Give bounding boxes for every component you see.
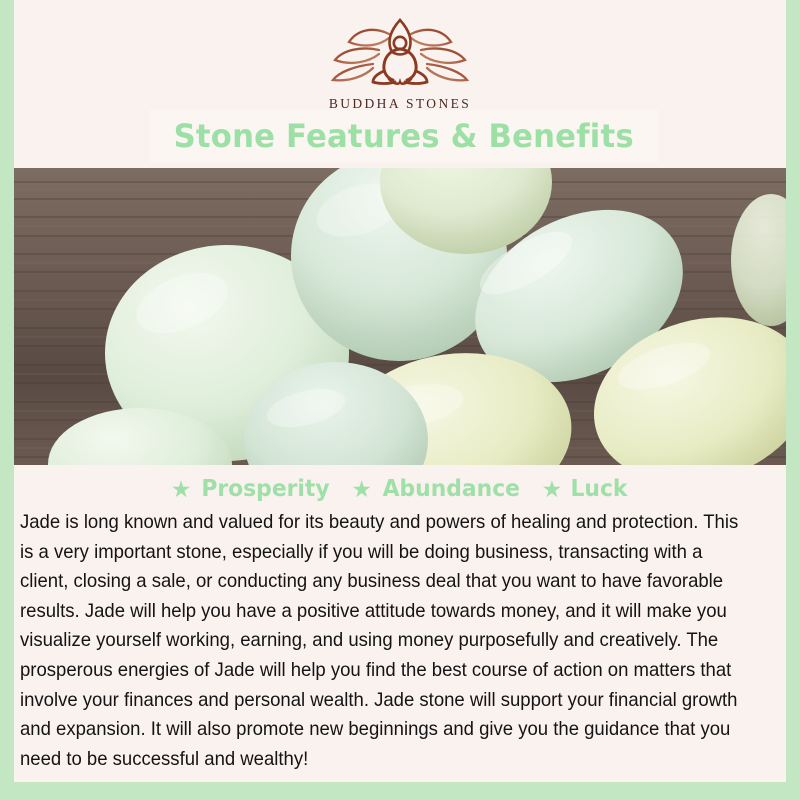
poster: BUDDHA STONES Stone Features & Benefits bbox=[0, 0, 800, 800]
stone-description: Jade is long known and valued for its be… bbox=[20, 508, 752, 774]
star-icon: ★ bbox=[351, 478, 372, 501]
brand-logo: BUDDHA STONES bbox=[14, 16, 786, 112]
benefit-label: Prosperity bbox=[202, 476, 330, 502]
jade-stones-image bbox=[14, 168, 786, 465]
benefit-label: Abundance bbox=[383, 476, 520, 502]
benefit-item: ★ Abundance bbox=[351, 476, 523, 502]
benefit-item: ★ Luck bbox=[542, 476, 630, 502]
lotus-meditation-icon bbox=[311, 16, 489, 92]
poster-card: BUDDHA STONES Stone Features & Benefits bbox=[14, 0, 786, 782]
stone-photo: Jade bbox=[14, 168, 786, 465]
star-icon: ★ bbox=[542, 478, 563, 501]
page-title: Stone Features & Benefits bbox=[174, 117, 634, 155]
benefit-item: ★ Prosperity bbox=[171, 476, 334, 502]
benefit-label: Luck bbox=[571, 476, 628, 502]
benefits-row: ★ Prosperity ★ Abundance ★ Luck bbox=[14, 476, 786, 502]
star-icon: ★ bbox=[171, 478, 192, 501]
title-banner: Stone Features & Benefits bbox=[150, 110, 658, 162]
